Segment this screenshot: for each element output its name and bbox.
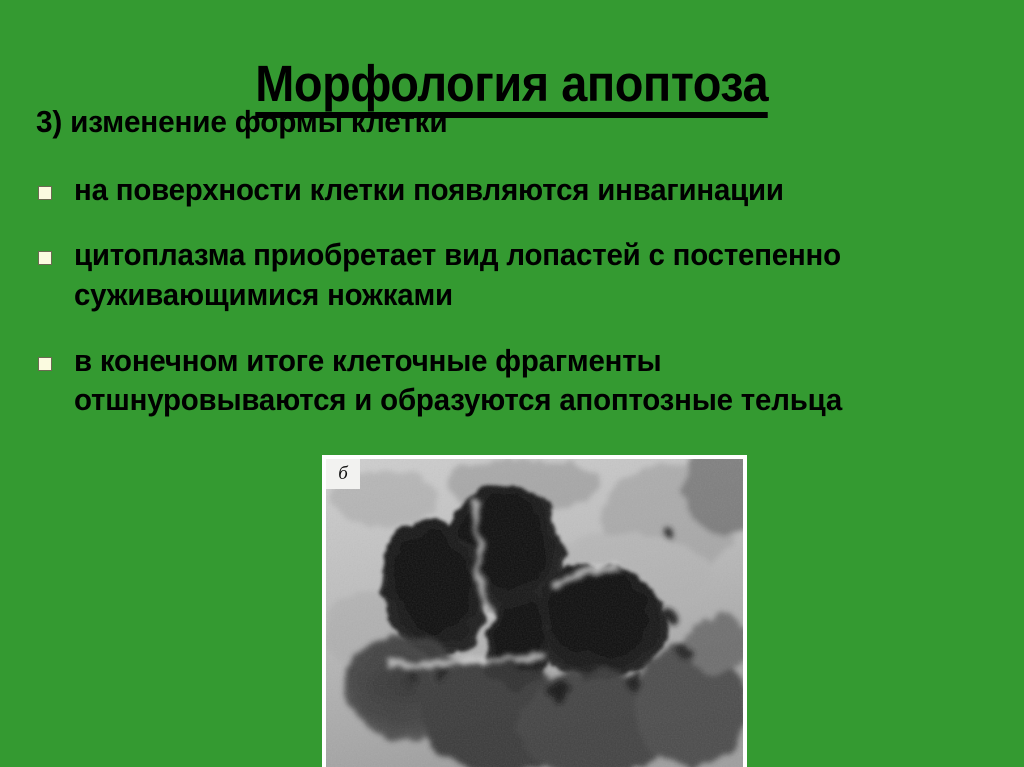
list-item-label: в конечном итоге клеточные фрагменты отш… bbox=[74, 342, 923, 421]
list-item-label: на поверхности клетки появляются инвагин… bbox=[74, 171, 784, 211]
intro-line: 3) изменение формы клетки bbox=[36, 104, 952, 141]
square-bullet-icon bbox=[38, 251, 52, 265]
figure-micrograph: б bbox=[322, 455, 747, 767]
figure-panel-label: б bbox=[326, 459, 360, 489]
list-item: в конечном итоге клеточные фрагменты отш… bbox=[30, 342, 990, 421]
list-item-label: цитоплазма приобретает вид лопастей с по… bbox=[74, 236, 923, 315]
square-bullet-icon bbox=[38, 186, 52, 200]
slide: Морфология апоптоза 3) изменение формы к… bbox=[0, 0, 1024, 767]
square-bullet-icon bbox=[38, 357, 52, 371]
content-body: 3) изменение формы клетки на поверхности… bbox=[30, 104, 990, 447]
list-item: цитоплазма приобретает вид лопастей с по… bbox=[30, 236, 990, 315]
list-item: на поверхности клетки появляются инвагин… bbox=[30, 171, 990, 211]
micrograph-image: б bbox=[326, 459, 743, 767]
micrograph-svg bbox=[326, 459, 743, 767]
